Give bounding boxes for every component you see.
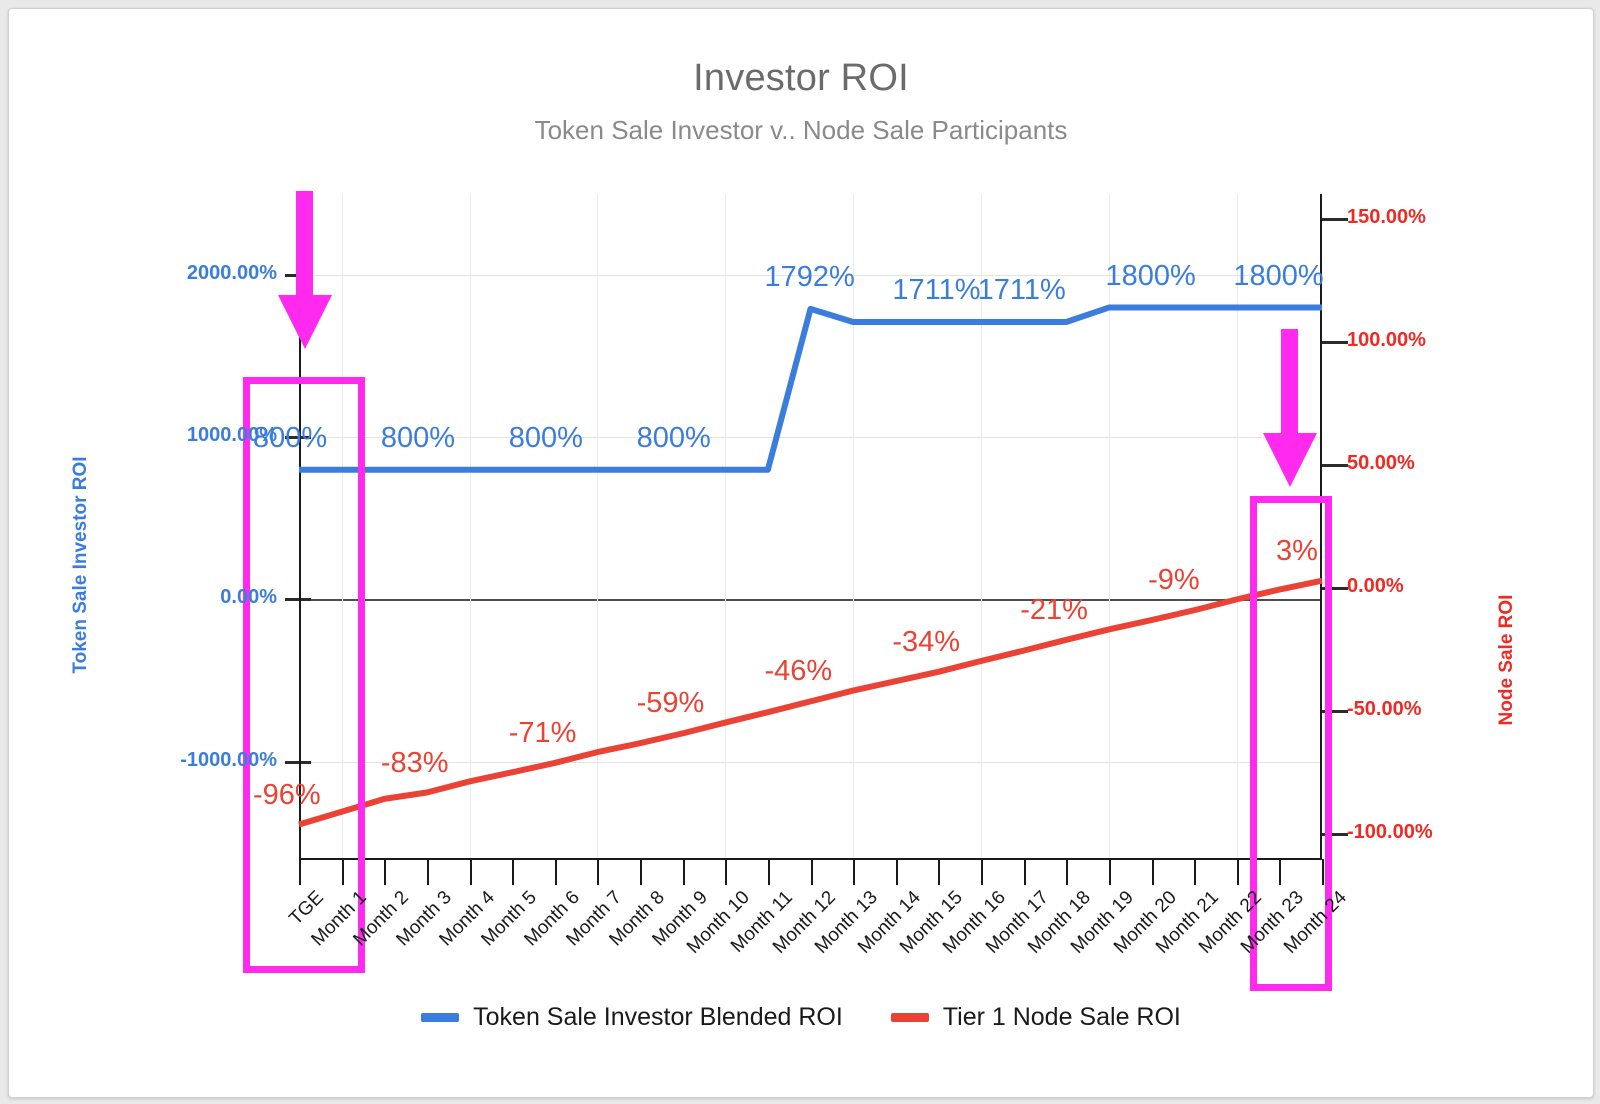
x-tick [683,859,685,885]
x-tick [597,859,599,885]
left-y-tick-label: 2000.00% [187,262,277,285]
data-point-label: 800% [509,422,583,455]
x-tick [1066,859,1068,885]
left-axis-title: Token Sale Investor ROI [70,435,92,695]
x-tick [640,859,642,885]
x-tick [938,859,940,885]
right-y-tick-label: -50.00% [1347,698,1422,721]
x-tick [427,859,429,885]
left-y-tick-label: -1000.00% [180,749,277,772]
x-tick [1322,859,1324,885]
right-y-tick [1322,464,1348,467]
x-tick [470,859,472,885]
x-tick [1024,859,1026,885]
data-point-label: -9% [1148,564,1200,597]
chart-subtitle: Token Sale Investor v.. Node Sale Partic… [9,115,1593,146]
x-tick [342,859,344,885]
x-tick [1152,859,1154,885]
chart-page: Investor ROI Token Sale Investor v.. Nod… [8,8,1594,1098]
data-point-label: 1800% [1106,260,1196,293]
month23-down-arrow [1259,329,1321,489]
x-tick [853,859,855,885]
x-tick [555,859,557,885]
x-tick [811,859,813,885]
right-y-tick-label: 150.00% [1347,206,1426,229]
x-tick [512,859,514,885]
right-y-tick [1322,341,1348,344]
x-tick [1194,859,1196,885]
data-point-label: -46% [765,655,833,688]
x-tick [1279,859,1281,885]
right-y-tick-label: -100.00% [1347,821,1433,844]
right-axis-title: Node Sale ROI [1496,560,1518,760]
left-y-tick-label: 0.00% [220,586,277,609]
tge-highlight-box [243,377,365,973]
x-tick [1237,859,1239,885]
investor-roi-chart: Investor ROI Token Sale Investor v.. Nod… [9,9,1593,1097]
x-tick [725,859,727,885]
data-point-label: -21% [1020,594,1088,627]
data-point-label: 800% [381,422,455,455]
left-y-tick-label: 1000.00% [187,424,277,447]
data-point-label: -71% [509,717,577,750]
data-point-label: -59% [637,687,705,720]
right-y-tick-label: 0.00% [1347,575,1404,598]
data-point-label: 800% [637,422,711,455]
x-tick [1109,859,1111,885]
x-tick [768,859,770,885]
x-tick [896,859,898,885]
right-y-tick-label: 50.00% [1347,452,1415,475]
data-point-label: -83% [381,747,449,780]
data-point-label: 1800% [1233,260,1323,293]
data-point-label: -34% [892,626,960,659]
x-tick [981,859,983,885]
data-point-label: 1792% [765,261,855,294]
data-point-label: 1711% [892,274,980,307]
right-y-tick [1322,218,1348,221]
chart-title: Investor ROI [9,57,1593,100]
data-point-label: 1711% [978,274,1066,307]
right-y-tick-label: 100.00% [1347,329,1426,352]
x-tick [299,859,301,885]
tge-down-arrow [274,191,336,351]
series-line [299,581,1322,825]
x-tick [384,859,386,885]
